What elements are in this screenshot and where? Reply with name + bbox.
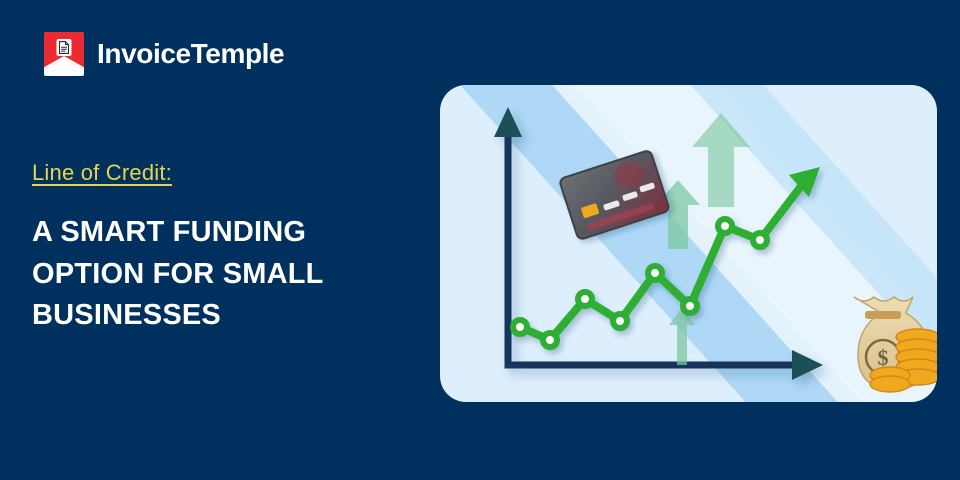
money-bag-dollar-symbol: $	[878, 345, 889, 370]
chart-node	[718, 219, 732, 233]
document-icon	[57, 39, 72, 56]
brand-name: InvoiceTemple	[97, 40, 284, 68]
temple-roof-shape	[44, 56, 84, 76]
banner: InvoiceTemple Line of Credit: A SMART FU…	[0, 0, 960, 480]
arrow-up-icon-large	[692, 113, 750, 207]
headline-line-2: OPTION FOR SMALL	[32, 254, 422, 295]
invoice-temple-logo-icon	[44, 32, 84, 76]
axis-arrow-icon	[792, 350, 823, 380]
brand-logo[interactable]: InvoiceTemple	[44, 32, 284, 76]
headline-eyebrow: Line of Credit:	[32, 160, 172, 186]
headline-line-3: BUSINESSES	[32, 295, 422, 336]
chart-node	[578, 292, 592, 306]
axis-arrow-icon	[494, 107, 522, 137]
growth-chart-illustration: $	[440, 85, 937, 402]
illustration-card: $	[440, 85, 937, 402]
chart-node	[613, 314, 627, 328]
chart-node	[543, 333, 557, 347]
chart-node	[648, 266, 662, 280]
headline-line-1: A SMART FUNDING	[32, 212, 422, 253]
chart-node	[683, 299, 697, 313]
headline-block: Line of Credit: A SMART FUNDING OPTION F…	[32, 160, 422, 336]
chart-node	[753, 233, 767, 247]
chart-node	[513, 320, 527, 334]
credit-card-icon	[559, 150, 670, 241]
